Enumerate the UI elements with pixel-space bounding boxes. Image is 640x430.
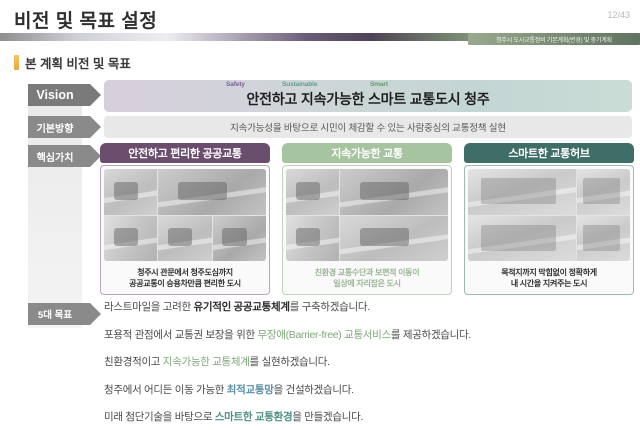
- photo-ev-charging: [286, 169, 339, 215]
- photo-ev-car: [340, 169, 448, 215]
- goal-highlight: 최적교통망: [227, 384, 274, 396]
- goal-text-post: 를 실현하겠습니다.: [250, 356, 330, 368]
- card-caption: 청주시 관문에서 청주도심까지 공공교통이 승용차만큼 편리한 도시: [105, 267, 265, 290]
- goal-text-post: 을 건설하겠습니다.: [274, 384, 354, 396]
- goal-line: 라스트마일을 고려한 유기적인 공공교통체계를 구축하겠습니다.: [104, 302, 632, 313]
- goal-line: 친환경적이고 지속가능한 교통체계를 실현하겠습니다.: [104, 357, 632, 368]
- photo-bike-path: [213, 216, 266, 262]
- photo-aerial-intersection-top: [468, 169, 576, 215]
- goal-text-pre: 포용적 관점에서 교통권 보장을 위한: [104, 329, 258, 341]
- card-header: 지속가능한 교통: [282, 143, 452, 163]
- core-value-card: 스마트한 교통허브 목적지까지 막힘없이 정확하게 내 시간을 지켜주는 도시: [464, 143, 634, 295]
- photo-bus-front: [104, 216, 157, 262]
- photo-green-bus: [286, 216, 339, 262]
- page-number: 12/43: [607, 10, 630, 20]
- goal-highlight: 무장애(Barrier-free) 교통서비스: [258, 329, 391, 341]
- card-header: 안전하고 편리한 공공교통: [100, 143, 270, 163]
- card-caption-line1: 친환경 교통수단과 보편적 이동이: [287, 267, 447, 279]
- direction-statement: 지속가능성을 바탕으로 시민이 체감할 수 있는 사람중심의 교통정책 실현: [230, 120, 506, 134]
- core-value-card: 지속가능한 교통 친환경 교통수단과 보편적 이동이 일상에 자리잡은 도시: [282, 143, 452, 295]
- goal-line: 청주에서 어디든 이동 가능한 최적교통망을 건설하겠습니다.: [104, 385, 632, 396]
- goals-list: 라스트마일을 고려한 유기적인 공공교통체계를 구축하겠습니다.포용적 관점에서…: [104, 302, 632, 423]
- goal-text-pre: 친환경적이고: [104, 356, 163, 368]
- card-caption-line2: 내 시간을 지켜주는 도시: [469, 278, 629, 290]
- card-caption-line2: 일상에 자리잡은 도시: [287, 278, 447, 290]
- title-bar: 비전 및 목표 설정 12/43: [0, 0, 640, 34]
- eyebrow-safety: Safety: [226, 81, 245, 88]
- page-title: 비전 및 목표 설정: [14, 6, 157, 33]
- photo-aerial-intersection-bottom: [468, 216, 576, 262]
- goal-text-post: 를 구축하겠습니다.: [290, 301, 370, 313]
- section-heading: 본 계획 비전 및 목표: [14, 53, 131, 72]
- rail-label-core-value: 핵심가치: [28, 145, 90, 167]
- card-body: 청주시 관문에서 청주도심까지 공공교통이 승용차만큼 편리한 도시: [100, 165, 270, 295]
- goal-text-pre: 라스트마일을 고려한: [104, 301, 193, 313]
- header-band: 청주시 도시교통정비 기본계획(변경) 및 중기계획: [468, 33, 640, 45]
- rail-label-vision: Vision: [28, 84, 90, 106]
- card-caption: 친환경 교통수단과 보편적 이동이 일상에 자리잡은 도시: [287, 267, 447, 290]
- goal-highlight: 유기적인 공공교통체계: [193, 301, 289, 313]
- photo-collage: [286, 169, 448, 261]
- goal-highlight: 스마트한 교통환경: [215, 411, 293, 423]
- photo-collage: [468, 169, 630, 261]
- card-body: 친환경 교통수단과 보편적 이동이 일상에 자리잡은 도시: [282, 165, 452, 295]
- section-marker-icon: [14, 55, 19, 70]
- section-title: 본 계획 비전 및 목표: [25, 53, 131, 72]
- card-caption-line1: 목적지까지 막힘없이 정확하게: [469, 267, 629, 279]
- goal-text-post: 를 제공하겠습니다.: [391, 329, 471, 341]
- slide-canvas: 비전 및 목표 설정 12/43 청주시 도시교통정비 기본계획(변경) 및 중…: [0, 0, 640, 430]
- goal-line: 포용적 관점에서 교통권 보장을 위한 무장애(Barrier-free) 교통…: [104, 330, 632, 341]
- photo-bus: [104, 169, 157, 215]
- vision-statement: 안전하고 지속가능한 스마트 교통도시 청주: [104, 89, 632, 109]
- direction-banner: 지속가능성을 바탕으로 시민이 체감할 수 있는 사람중심의 교통정책 실현: [104, 116, 632, 138]
- photo-scooter: [158, 216, 211, 262]
- photo-aerial-corner: [577, 169, 630, 215]
- card-caption-line2: 공공교통이 승용차만큼 편리한 도시: [105, 278, 265, 290]
- header-band-label: 청주시 도시교통정비 기본계획(변경) 및 중기계획: [496, 35, 612, 44]
- rail-label-direction: 기본방향: [28, 116, 90, 138]
- card-header: 스마트한 교통허브: [464, 143, 634, 163]
- goal-text-pre: 청주에서 어디든 이동 가능한: [104, 384, 227, 396]
- goal-highlight: 지속가능한 교통체계: [163, 356, 250, 368]
- card-caption-line1: 청주시 관문에서 청주도심까지: [105, 267, 265, 279]
- photo-collage: [104, 169, 266, 261]
- core-value-card: 안전하고 편리한 공공교통 청주시 관문에서 청주도심까지 공공교통이 승용차만…: [100, 143, 270, 295]
- goal-text-pre: 미래 첨단기술을 바탕으로: [104, 411, 215, 423]
- goal-line: 미래 첨단기술을 바탕으로 스마트한 교통환경을 만들겠습니다.: [104, 412, 632, 423]
- card-body: 목적지까지 막힘없이 정확하게 내 시간을 지켜주는 도시: [464, 165, 634, 295]
- goal-text-post: 을 만들겠습니다.: [292, 411, 363, 423]
- card-caption: 목적지까지 막힘없이 정확하게 내 시간을 지켜주는 도시: [469, 267, 629, 290]
- vision-banner: Safety Sustainable Smart 안전하고 지속가능한 스마트 …: [104, 80, 632, 112]
- core-value-cards: 안전하고 편리한 공공교통 청주시 관문에서 청주도심까지 공공교통이 승용차만…: [100, 143, 634, 295]
- rail-label-goals: 5대 목표: [28, 303, 90, 325]
- photo-car-road: [158, 169, 266, 215]
- eyebrow-sustainable: Sustainable: [282, 81, 317, 88]
- photo-bus-station: [340, 216, 448, 262]
- eyebrow-smart: Smart: [370, 81, 388, 88]
- photo-aerial-crosswalk: [577, 216, 630, 262]
